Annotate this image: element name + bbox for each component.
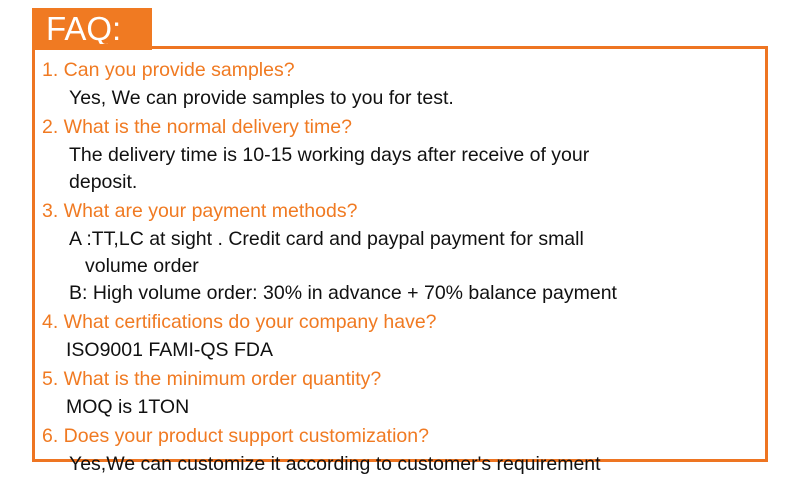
faq-answer-2-line-1: The delivery time is 10-15 working days … [35, 142, 765, 169]
faq-answer-3-line-3: B: High volume order: 30% in advance + 7… [35, 280, 765, 307]
faq-tab-joint [35, 44, 152, 50]
faq-question-3: 3. What are your payment methods? [35, 196, 765, 226]
faq-answer-3-line-2: volume order [35, 253, 765, 280]
faq-item-1: 1. Can you provide samples? Yes, We can … [35, 55, 765, 112]
faq-question-5: 5. What is the minimum order quantity? [35, 364, 765, 394]
faq-answer-4-line-1: ISO9001 FAMI-QS FDA [35, 337, 765, 364]
faq-panel: 1. Can you provide samples? Yes, We can … [32, 46, 768, 462]
faq-question-4: 4. What certifications do your company h… [35, 307, 765, 337]
faq-answer-1-line-1: Yes, We can provide samples to you for t… [35, 85, 765, 112]
faq-list: 1. Can you provide samples? Yes, We can … [35, 49, 765, 478]
faq-answer-2-line-2: deposit. [35, 169, 765, 196]
faq-page: 1. Can you provide samples? Yes, We can … [0, 0, 799, 475]
faq-header-title: FAQ: [46, 10, 121, 48]
faq-item-3: 3. What are your payment methods? A :TT,… [35, 196, 765, 307]
faq-answer-5-line-1: MOQ is 1TON [35, 394, 765, 421]
faq-question-2: 2. What is the normal delivery time? [35, 112, 765, 142]
faq-item-6: 6. Does your product support customizati… [35, 421, 765, 478]
faq-answer-3-line-1: A :TT,LC at sight . Credit card and payp… [35, 226, 765, 253]
faq-item-5: 5. What is the minimum order quantity? M… [35, 364, 765, 421]
faq-question-1: 1. Can you provide samples? [35, 55, 765, 85]
faq-answer-6-line-1: Yes,We can customize it according to cus… [35, 451, 765, 478]
faq-question-6: 6. Does your product support customizati… [35, 421, 765, 451]
faq-item-2: 2. What is the normal delivery time? The… [35, 112, 765, 196]
faq-item-4: 4. What certifications do your company h… [35, 307, 765, 364]
